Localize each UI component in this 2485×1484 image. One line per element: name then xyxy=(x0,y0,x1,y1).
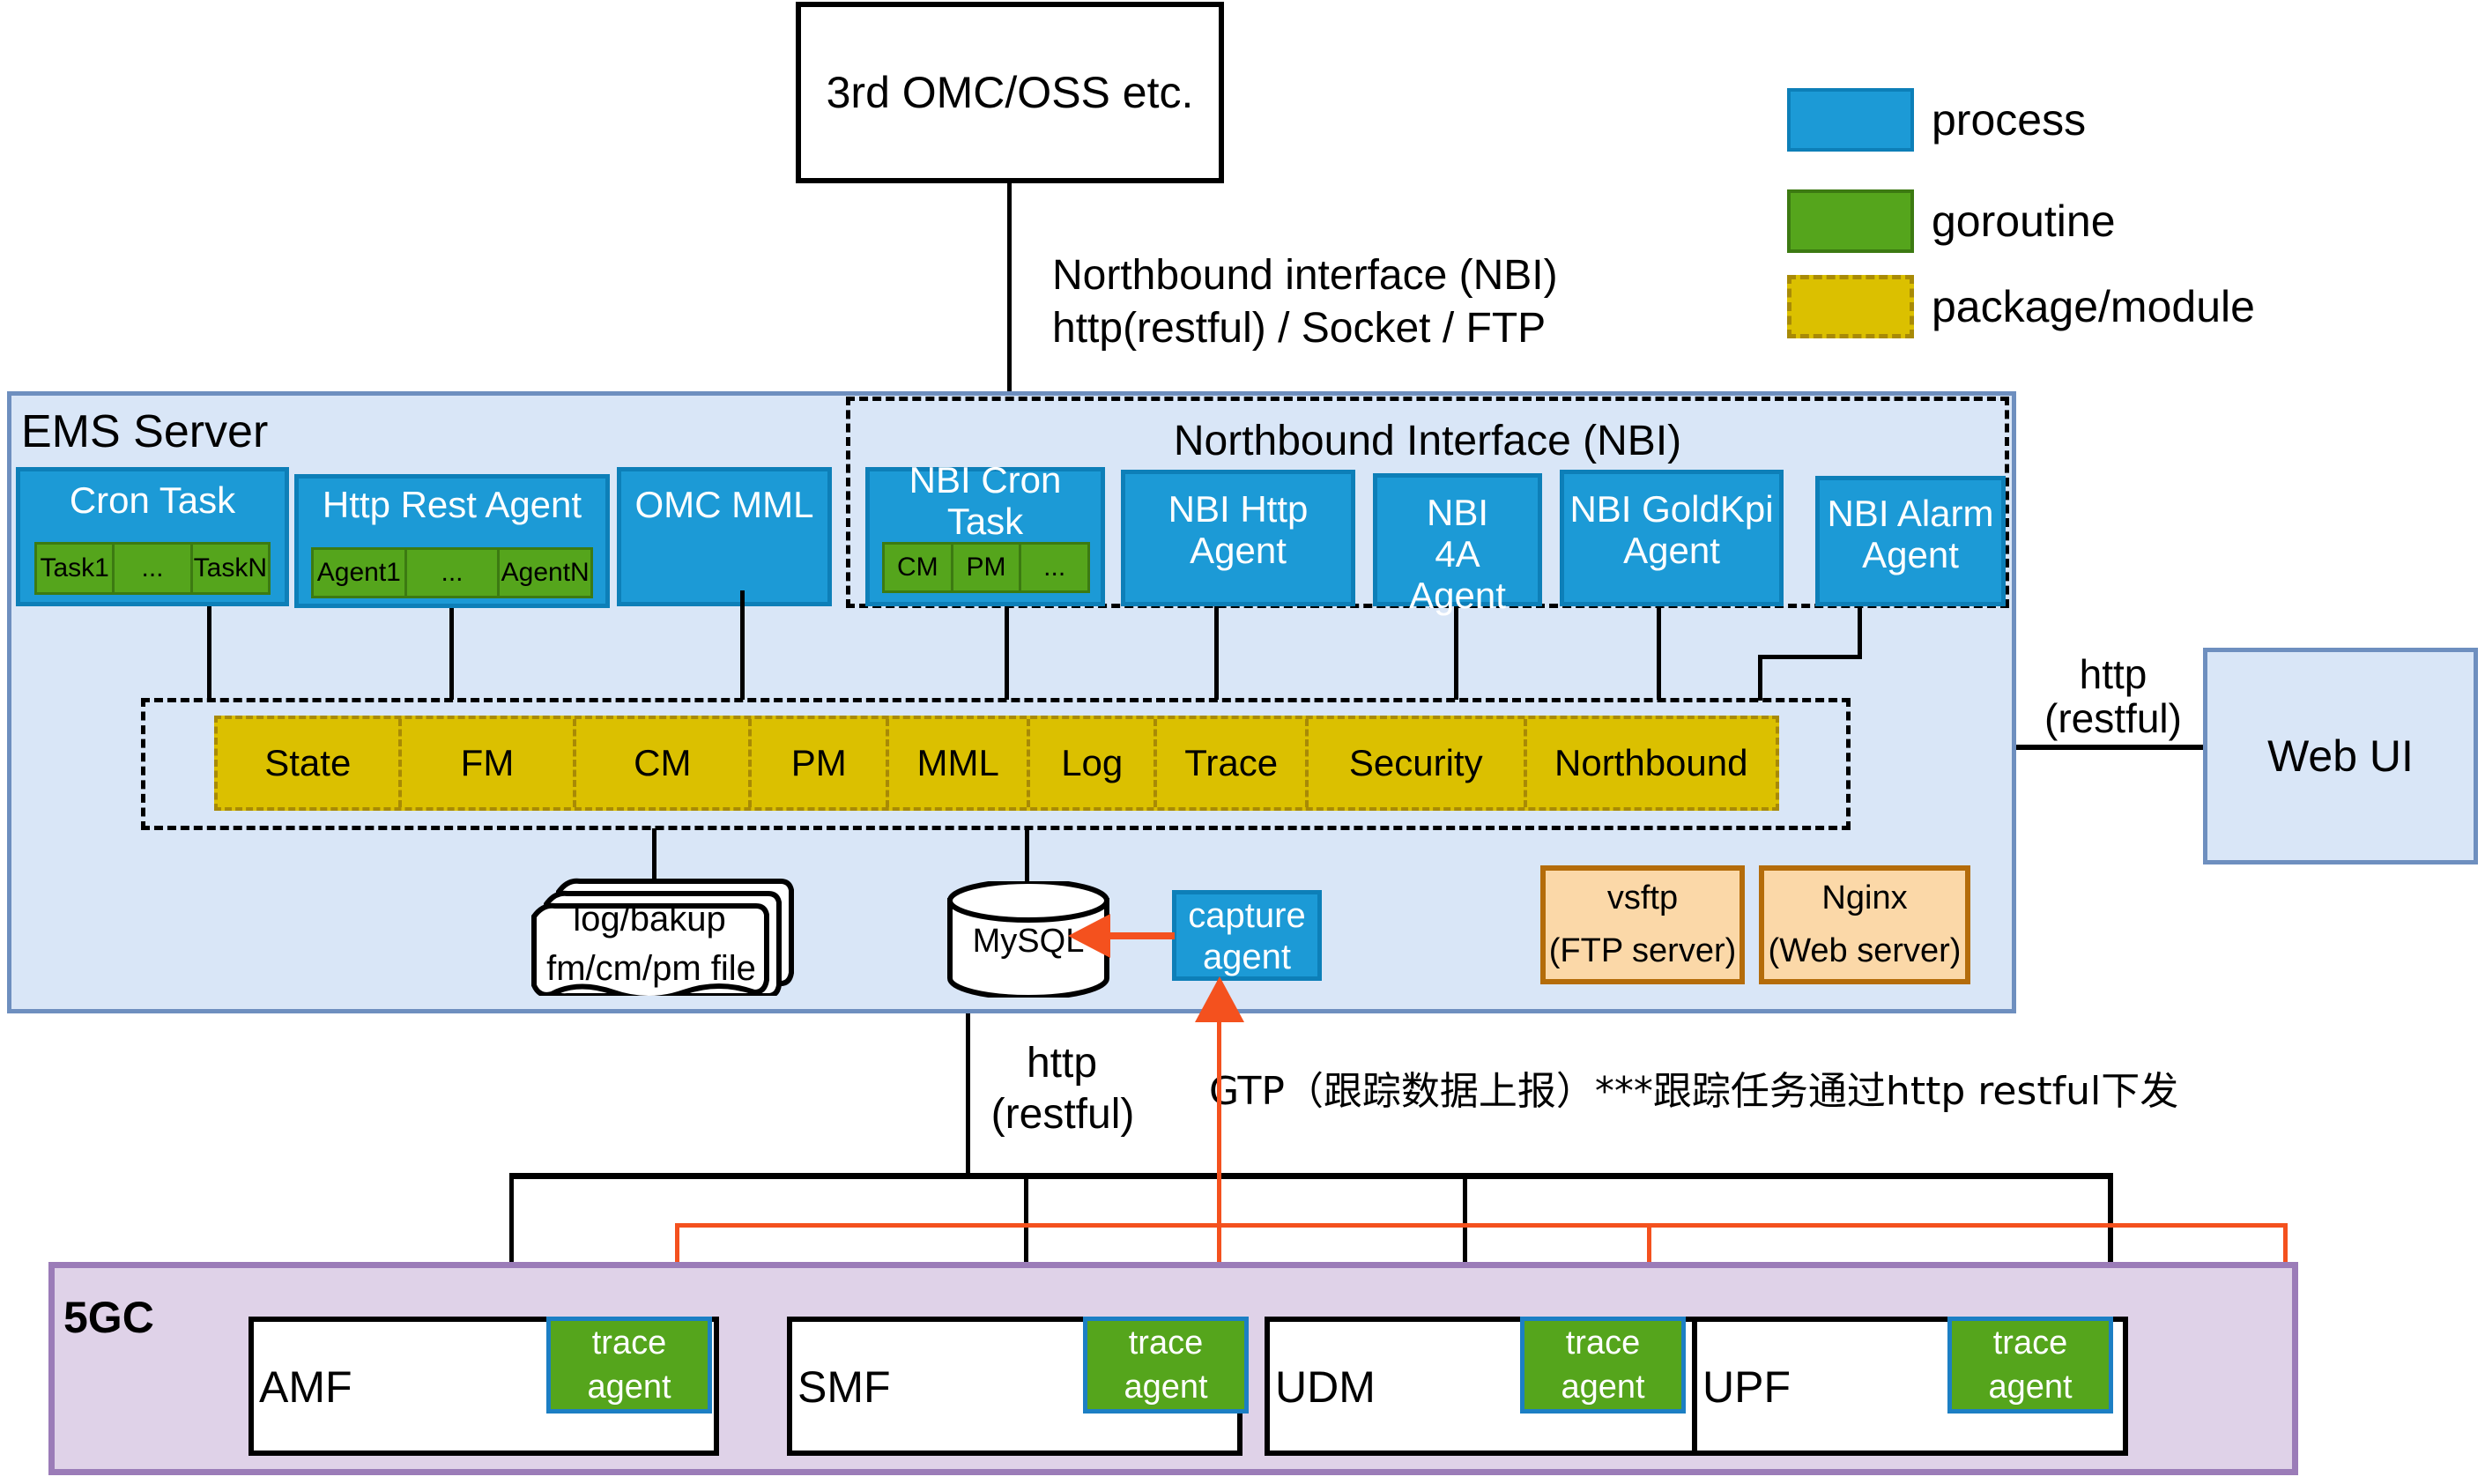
process-box-nbi-http-agent[interactable]: NBI Http Agent xyxy=(1121,470,1355,606)
trace-riser-lower xyxy=(1217,981,1221,1228)
connector-nbi-4a-agent xyxy=(1454,606,1458,700)
process-box-nbi-goldkpi-agent[interactable]: NBI GoldKpi Agent xyxy=(1560,470,1784,606)
goroutine-cell: ... xyxy=(407,550,501,596)
nf-label-upf: UPF xyxy=(1702,1362,1791,1413)
process-box-nbi-alarm-agent[interactable]: NBI Alarm Agent xyxy=(1815,476,2006,606)
process-label-cron-task: Cron Task xyxy=(20,475,285,526)
architecture-diagram: process goroutine package/module 3rd OMC… xyxy=(0,0,2485,1484)
server-box-vsftp[interactable]: vsftp (FTP server) xyxy=(1540,865,1745,984)
goroutine-group-http-rest-agent: Agent1 ... AgentN xyxy=(311,547,593,598)
connector-cron-task xyxy=(207,606,211,700)
process-label-http-rest-agent: Http Rest Agent xyxy=(299,480,605,530)
process-box-cron-task[interactable]: Cron Task Task1 ... TaskN xyxy=(16,467,289,606)
capture-agent-label-line2: agent xyxy=(1176,937,1317,977)
goroutine-cell: Agent1 xyxy=(314,550,407,596)
nginx-label-line1: Nginx xyxy=(1764,871,1965,925)
connector-http-rest-agent xyxy=(449,608,454,700)
server-box-nginx[interactable]: Nginx (Web server) xyxy=(1759,865,1970,984)
arrow-capture-to-mysql-head xyxy=(1068,914,1110,958)
module-security[interactable]: Security xyxy=(1309,719,1527,807)
goroutine-cell: TaskN xyxy=(193,545,268,592)
process-label-omc-mml: OMC MML xyxy=(635,484,814,525)
nbi-link-label-line1: Northbound interface (NBI) xyxy=(1052,251,1558,300)
trace-agent-smf-line2: agent xyxy=(1087,1365,1244,1409)
nbi-link-label-line2: http(restful) / Socket / FTP xyxy=(1052,304,1546,352)
vsftp-label-line1: vsftp xyxy=(1546,871,1739,925)
trace-agent-amf-line1: trace xyxy=(551,1321,708,1365)
goroutine-cell: PM xyxy=(953,545,1022,590)
module-cm[interactable]: CM xyxy=(576,719,752,807)
external-system-box[interactable]: 3rd OMC/OSS etc. xyxy=(796,2,1224,183)
trace-agent-upf[interactable]: trace agent xyxy=(1947,1317,2113,1414)
legend-swatch-process xyxy=(1787,88,1914,152)
goroutine-group-cron-task: Task1 ... TaskN xyxy=(34,542,271,595)
module-fm[interactable]: FM xyxy=(402,719,577,807)
connector-nbi-cron-task xyxy=(1005,606,1009,700)
web-ui-label: Web UI xyxy=(2267,731,2414,781)
goroutine-cell: AgentN xyxy=(500,550,590,596)
module-mml[interactable]: MML xyxy=(889,719,1030,807)
connector-nbi-goldkpi-agent xyxy=(1657,606,1661,700)
process-label-nbi-alarm-agent: NBI Alarm Agent xyxy=(1818,493,2003,575)
goroutine-cell: Task1 xyxy=(37,545,115,592)
trace-agent-smf-line1: trace xyxy=(1087,1321,1244,1365)
trace-agent-amf[interactable]: trace agent xyxy=(546,1317,712,1414)
nf-label-smf: SMF xyxy=(797,1362,891,1413)
module-bar: State FM CM PM MML Log Trace Security No… xyxy=(214,716,1779,811)
connector-nbi-http-agent xyxy=(1214,606,1219,700)
module-state[interactable]: State xyxy=(218,719,402,807)
process-box-nbi-4a-agent[interactable]: NBI 4A Agent xyxy=(1373,473,1542,606)
process-box-nbi-cron-task[interactable]: NBI Cron Task CM PM ... xyxy=(865,467,1105,606)
connector-ems-to-webui xyxy=(2016,745,2203,750)
trace-agent-amf-line2: agent xyxy=(551,1365,708,1409)
file-store-label-line2: fm/cm/pm file xyxy=(532,950,770,987)
external-system-label: 3rd OMC/OSS etc. xyxy=(827,68,1194,117)
legend-swatch-goroutine xyxy=(1787,189,1914,253)
legend-swatch-package-module xyxy=(1787,275,1914,338)
process-box-capture-agent[interactable]: capture agent xyxy=(1172,890,1322,981)
capture-agent-label-line1: capture xyxy=(1176,894,1317,937)
arrow-capture-to-mysql-shaft xyxy=(1106,932,1175,939)
legend-label-package-module: package/module xyxy=(1932,278,2390,335)
connector-nbi-alarm-agent-seg3 xyxy=(1758,655,1762,701)
trace-agent-upf-line2: agent xyxy=(1952,1365,2109,1409)
nginx-label-line2: (Web server) xyxy=(1764,925,1965,976)
trace-agent-upf-line1: trace xyxy=(1952,1321,2109,1365)
connector-omc-mml xyxy=(740,590,745,700)
gtp-note-label: GTP（跟踪数据上报）***跟踪任务通过http restful下发 xyxy=(1209,1059,2178,1116)
process-label-nbi-cron-task: NBI Cron Task xyxy=(870,475,1101,526)
goroutine-cell: CM xyxy=(885,545,953,590)
legend-label-process: process xyxy=(1932,92,2302,148)
process-label-nbi-http-agent: NBI Http Agent xyxy=(1159,488,1317,571)
file-store-label-line1: log/bakup xyxy=(539,901,760,938)
goroutine-group-nbi-cron-task: CM PM ... xyxy=(882,542,1090,593)
process-label-nbi-4a-agent: NBI 4A Agent xyxy=(1400,492,1515,616)
http-link-label-line2: (restful) xyxy=(968,1093,1158,1137)
trace-agent-udm[interactable]: trace agent xyxy=(1520,1317,1686,1414)
webui-link-label-line1: http xyxy=(2027,654,2199,696)
module-trace[interactable]: Trace xyxy=(1157,719,1309,807)
vsftp-label-line2: (FTP server) xyxy=(1546,925,1739,976)
process-box-http-rest-agent[interactable]: Http Rest Agent Agent1 ... AgentN xyxy=(294,474,610,608)
trace-bus xyxy=(675,1223,2288,1228)
legend-label-goroutine: goroutine xyxy=(1932,193,2302,249)
trace-agent-udm-line2: agent xyxy=(1524,1365,1681,1409)
goroutine-cell: ... xyxy=(1021,545,1087,590)
distribution-bus xyxy=(509,1173,2113,1179)
module-pm[interactable]: PM xyxy=(752,719,889,807)
nf-label-amf: AMF xyxy=(259,1362,352,1413)
ems-server-title: EMS Server xyxy=(21,405,268,458)
module-log[interactable]: Log xyxy=(1030,719,1157,807)
webui-link-label-line2: (restful) xyxy=(2018,698,2208,740)
goroutine-cell: ... xyxy=(115,545,192,592)
trace-agent-udm-line1: trace xyxy=(1524,1321,1681,1365)
nf-label-udm: UDM xyxy=(1275,1362,1376,1413)
process-box-omc-mml[interactable]: OMC MML xyxy=(617,467,832,606)
module-northbound[interactable]: Northbound xyxy=(1527,719,1777,807)
5gc-title: 5GC xyxy=(63,1292,154,1343)
http-link-label-line1: http xyxy=(978,1042,1146,1086)
web-ui-box[interactable]: Web UI xyxy=(2203,648,2478,864)
process-label-nbi-goldkpi-agent: NBI GoldKpi Agent xyxy=(1566,488,1777,571)
trace-agent-smf[interactable]: trace agent xyxy=(1083,1317,1249,1414)
connector-nbi-alarm-agent-seg1 xyxy=(1858,606,1862,659)
connector-nbi-alarm-agent-seg2 xyxy=(1758,655,1862,659)
